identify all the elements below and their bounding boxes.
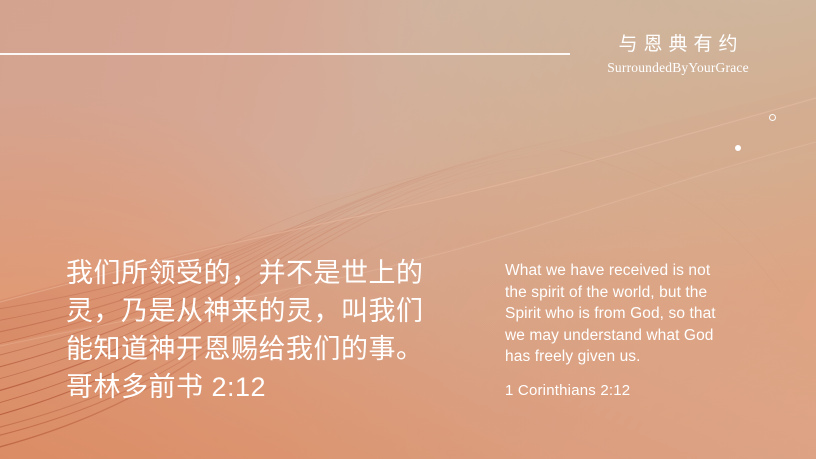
solid-dot-icon	[735, 145, 741, 151]
verse-english-line-1: What we have received is not	[505, 262, 710, 279]
brand-logo-english: SurroundedByYourGrace	[568, 60, 788, 76]
verse-chinese: 我们所领受的，并不是世上的 灵，乃是从神来的灵，叫我们 能知道神开恩赐给我们的事…	[66, 254, 476, 406]
verse-english-line-2: the spirit of the world, but the	[505, 284, 707, 301]
verse-chinese-line-2: 灵，乃是从神来的灵，叫我们	[66, 296, 424, 326]
brand-logo-chinese: 与恩典有约	[568, 33, 788, 57]
scripture-slide: 与恩典有约 SurroundedByYourGrace 我们所领受的，并不是世上…	[0, 0, 816, 459]
verse-english: What we have received is not the spirit …	[505, 260, 767, 399]
ring-dot-icon	[769, 114, 776, 121]
verse-chinese-line-1: 我们所领受的，并不是世上的	[66, 258, 424, 288]
header-divider	[0, 53, 570, 55]
brand-logo: 与恩典有约 SurroundedByYourGrace	[568, 33, 788, 76]
verse-english-line-5: has freely given us.	[505, 348, 641, 365]
verse-chinese-line-3: 能知道神开恩赐给我们的事。	[66, 334, 424, 364]
verse-english-line-4: we may understand what God	[505, 327, 714, 344]
verse-english-line-3: Spirit who is from God, so that	[505, 305, 716, 322]
verse-english-reference: 1 Corinthians 2:12	[505, 382, 767, 399]
background-tint-top-left	[0, 0, 420, 270]
verse-chinese-reference: 哥林多前书 2:12	[66, 368, 476, 406]
verse-english-body: What we have received is not the spirit …	[505, 260, 767, 368]
